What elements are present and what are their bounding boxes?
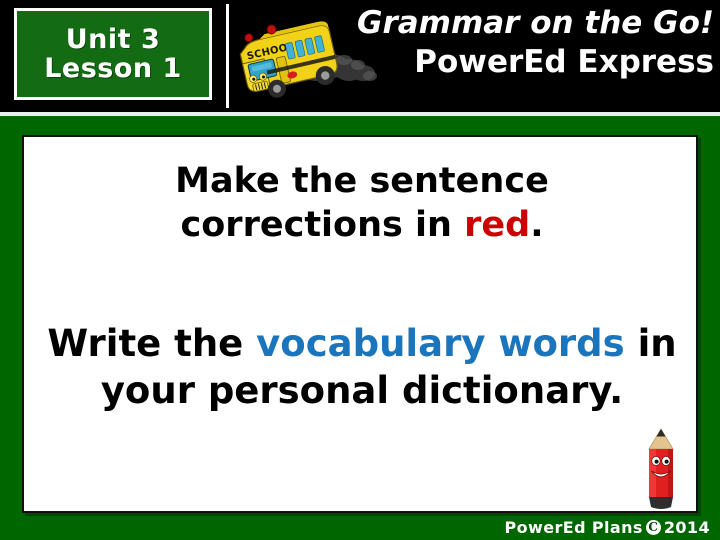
slide-title-block: Grammar on the Go! PowerEd Express [330, 8, 714, 78]
footer-brand: PowerEd Plans [505, 518, 643, 537]
unit-label: Unit 3 [66, 25, 161, 54]
footer-year: 2014 [664, 518, 710, 537]
content-card: Make the sentence corrections in red. Wr… [22, 135, 698, 513]
slide-canvas: Unit 3 Lesson 1 [0, 0, 720, 540]
instruction-1-highlight-red: red [464, 205, 530, 245]
smiling-pencil-icon [638, 427, 684, 513]
header-divider [226, 4, 229, 108]
footer-credit: PowerEd Plans C 2014 [505, 518, 710, 537]
school-bus-icon: SCHOOL [231, 14, 341, 108]
slide-title-secondary: PowerEd Express [330, 47, 714, 78]
slide-title-primary: Grammar on the Go! [330, 8, 714, 39]
instruction-paragraph-2: Write the vocabulary words in your perso… [24, 321, 698, 414]
instruction-2-text-before: Write the [47, 322, 256, 365]
lesson-label: Lesson 1 [44, 54, 182, 83]
header-underline [0, 112, 720, 116]
instruction-paragraph-1: Make the sentence corrections in red. [24, 159, 698, 247]
copyright-icon: C [646, 520, 661, 535]
header-band: Unit 3 Lesson 1 [0, 0, 720, 112]
instruction-1-text-after: . [530, 205, 543, 245]
instruction-2-highlight-blue: vocabulary words [256, 322, 625, 365]
unit-lesson-box: Unit 3 Lesson 1 [14, 8, 212, 100]
